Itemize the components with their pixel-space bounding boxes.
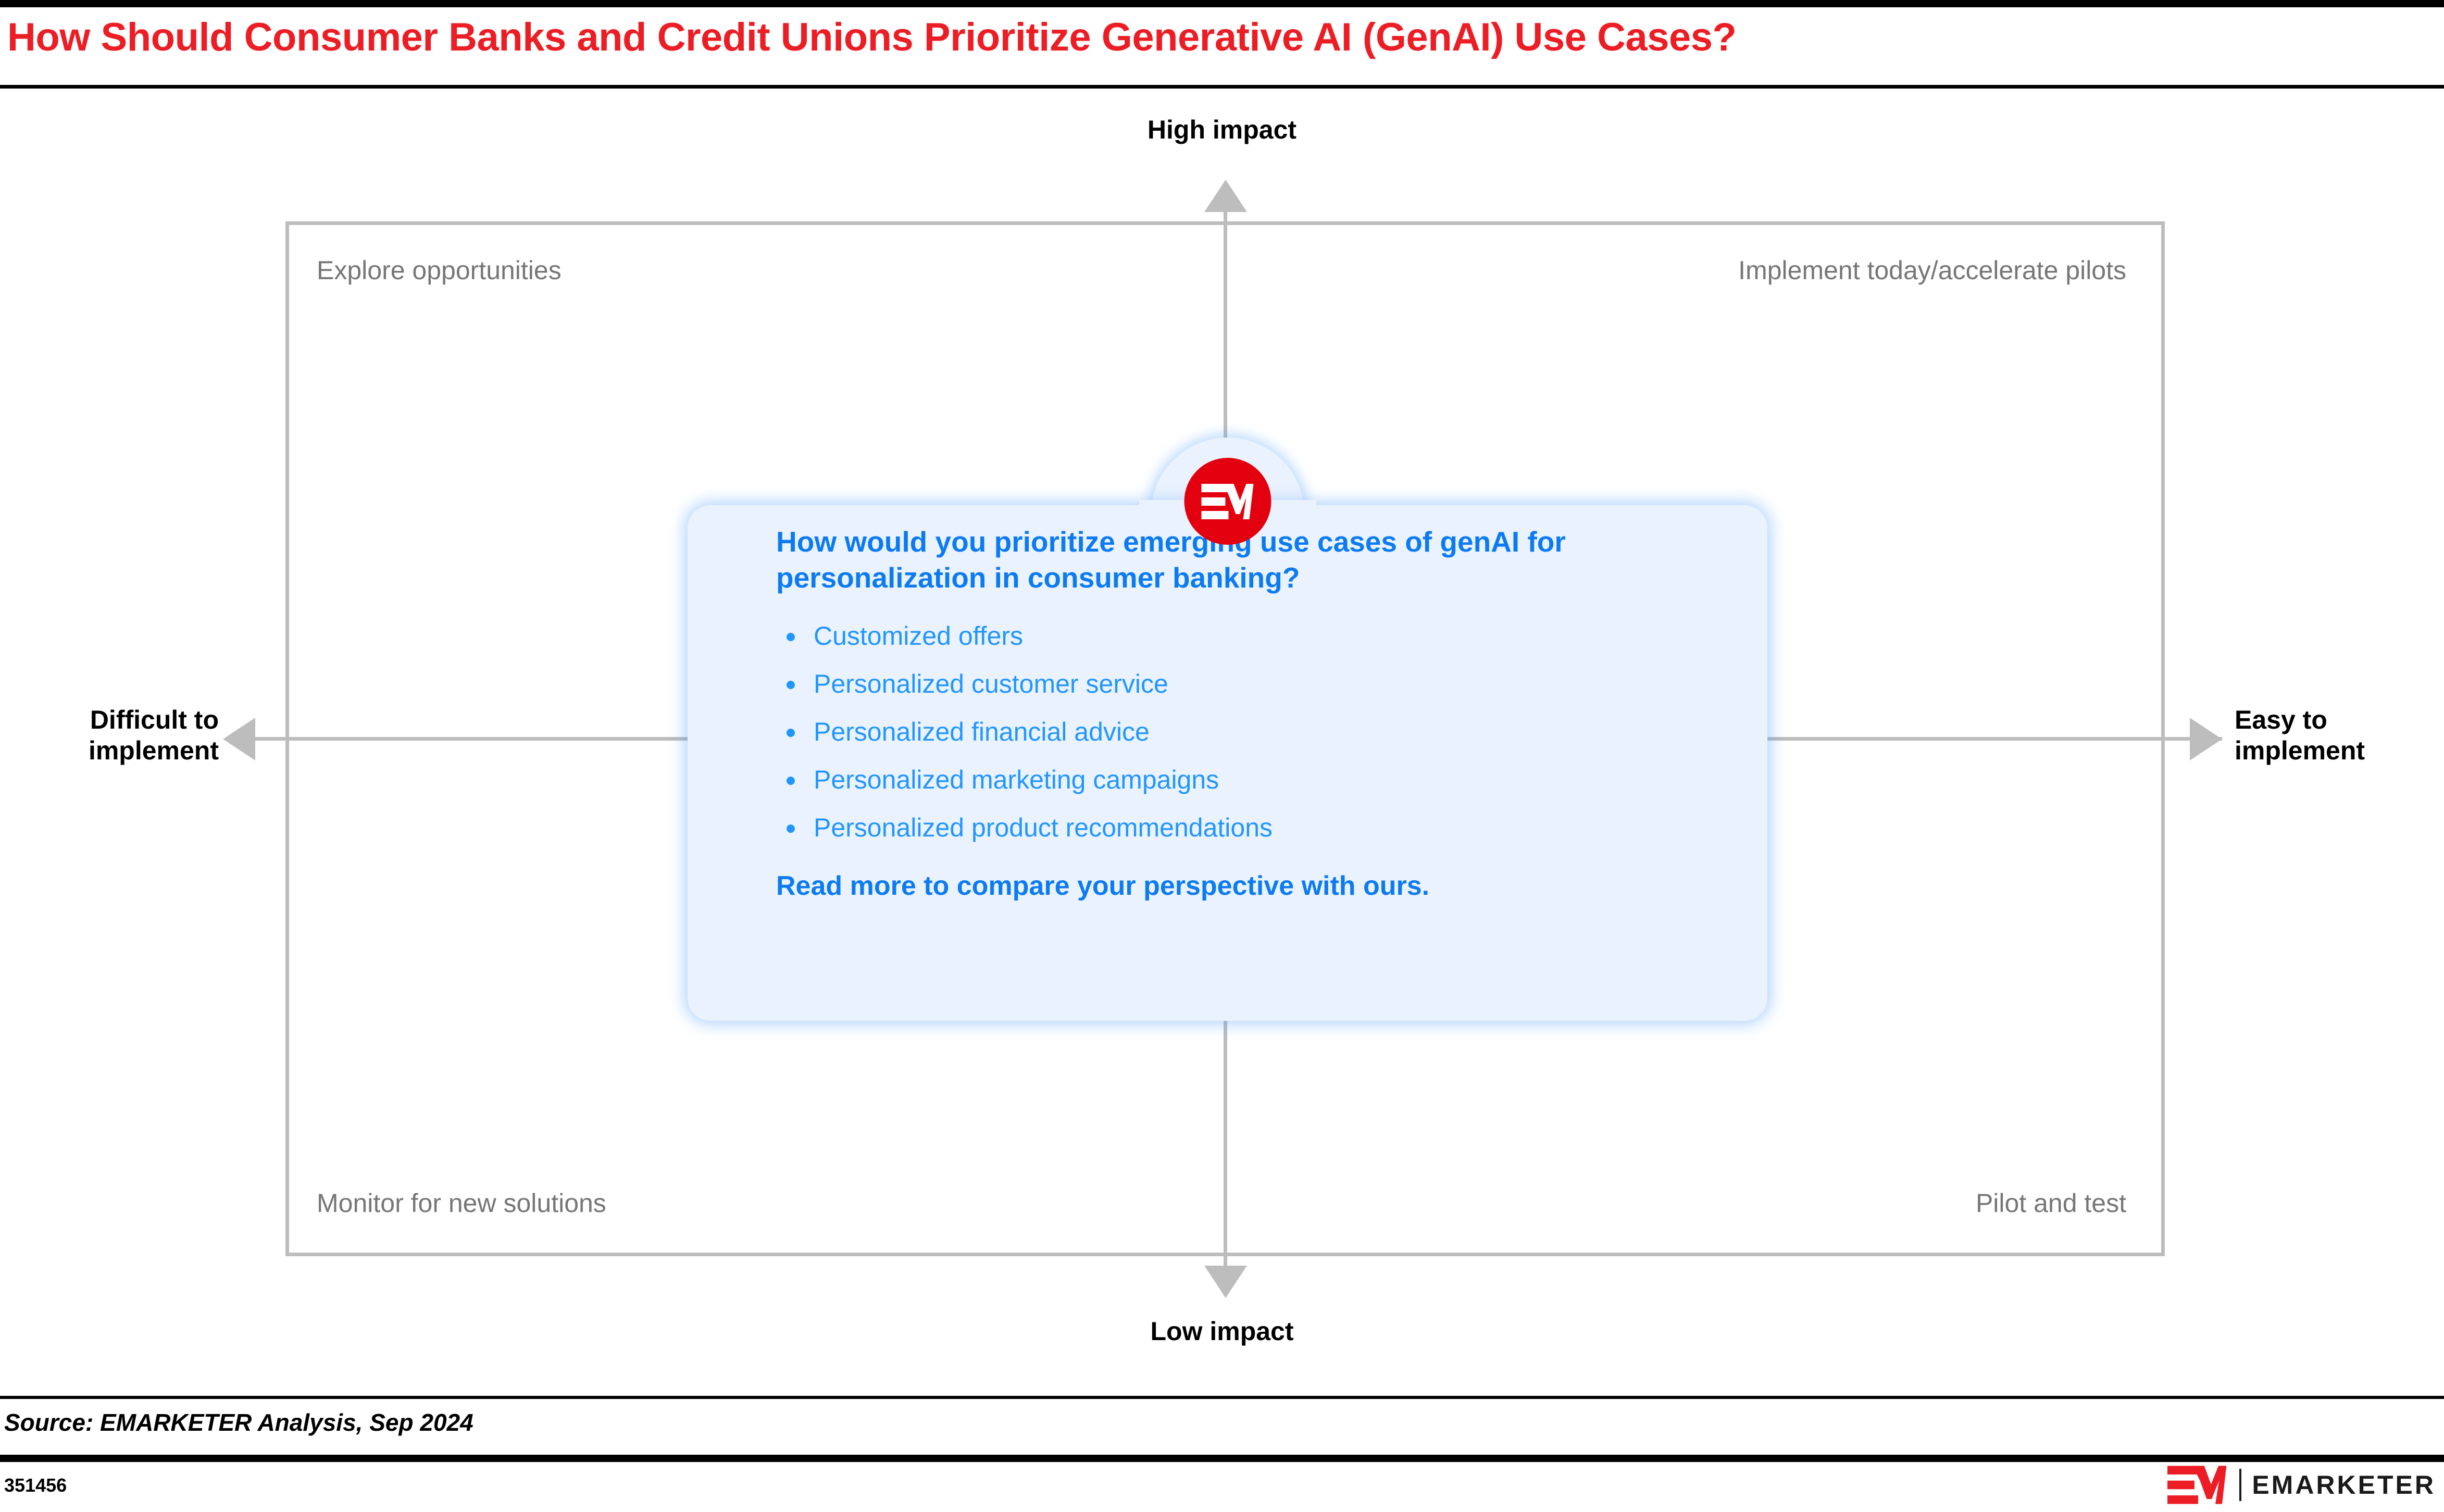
axis-label-left-line2: implement	[0, 735, 219, 766]
callout-read-more-link[interactable]: Read more to compare your perspective wi…	[776, 870, 1726, 902]
axis-label-right-line1: Easy to	[2235, 705, 2443, 735]
quadrant-label-pilot-and-test: Pilot and test	[1976, 1188, 2126, 1218]
page-title: How Should Consumer Banks and Credit Uni…	[7, 18, 1736, 57]
axis-arrow-down-icon	[1204, 1266, 1247, 1298]
axis-label-difficult-to-implement: Difficult to implement	[0, 705, 219, 766]
callout-card-container[interactable]: How would you prioritize emerging use ca…	[688, 438, 1767, 1021]
emarketer-wordmark: EMARKETER	[2252, 1472, 2436, 1498]
list-item: Personalized marketing campaigns	[776, 767, 1726, 793]
chart-id: 351456	[4, 1474, 67, 1496]
list-item: Personalized financial advice	[776, 719, 1726, 745]
logo-divider	[2239, 1469, 2241, 1501]
axis-label-right-line2: implement	[2235, 735, 2443, 766]
list-item: Personalized product recommendations	[776, 815, 1726, 841]
axis-arrow-right-icon	[2190, 718, 2222, 760]
callout-use-case-list: Customized offers Personalized customer …	[776, 623, 1726, 841]
axis-label-left-line1: Difficult to	[0, 705, 219, 735]
top-black-rule	[0, 0, 2444, 7]
emarketer-brand-logo: EMARKETER	[2167, 1468, 2436, 1502]
quadrant-label-explore-opportunities: Explore opportunities	[317, 255, 562, 285]
axis-arrow-left-icon	[223, 718, 255, 760]
quadrant-label-monitor-for-new-solutions: Monitor for new solutions	[317, 1188, 606, 1218]
source-bottom-rule	[0, 1455, 2444, 1462]
list-item: Customized offers	[776, 623, 1726, 649]
emarketer-em-logo-icon	[2167, 1465, 2229, 1505]
source-top-rule	[0, 1396, 2444, 1399]
emarketer-em-logo-icon	[1184, 458, 1271, 545]
axis-arrow-up-icon	[1204, 180, 1247, 212]
list-item: Personalized customer service	[776, 671, 1726, 697]
axis-label-low-impact: Low impact	[0, 1316, 2444, 1347]
title-underline-rule	[0, 85, 2444, 89]
axis-label-easy-to-implement: Easy to implement	[2235, 705, 2443, 766]
source-note: Source: EMARKETER Analysis, Sep 2024	[4, 1408, 473, 1436]
quadrant-label-implement-today: Implement today/accelerate pilots	[1738, 255, 2126, 285]
callout-card-content: How would you prioritize emerging use ca…	[776, 524, 1726, 902]
axis-label-high-impact: High impact	[0, 115, 2444, 145]
